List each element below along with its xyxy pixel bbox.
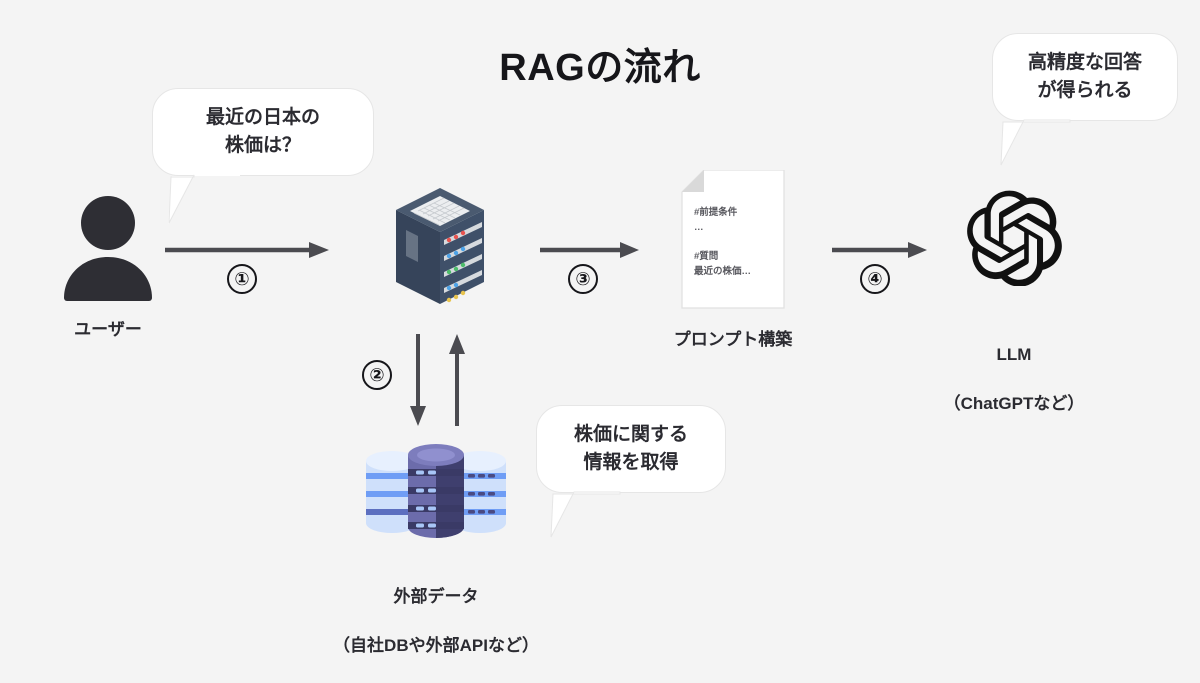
bubble-tail-icon bbox=[550, 491, 630, 539]
database-label-line2: （自社DBや外部APIなど） bbox=[276, 634, 596, 659]
llm-label: LLM （ChatGPTなど） bbox=[904, 318, 1124, 441]
server-node bbox=[392, 186, 488, 310]
arrow-2 bbox=[404, 334, 474, 426]
diagram-canvas: RAGの流れ ユーザー 最近の日本の株価は？ ① bbox=[0, 0, 1200, 630]
arrow-1-number: ① bbox=[227, 264, 257, 294]
database-label: 外部データ （自社DBや外部APIなど） bbox=[276, 560, 596, 683]
bubble-tail-icon bbox=[1000, 119, 1080, 167]
prompt-doc-text: #前提条件 … #質問 最近の株価… bbox=[694, 206, 751, 280]
person-icon bbox=[42, 185, 174, 305]
bubble-user-question-text: 最近の日本の株価は？ bbox=[192, 104, 334, 159]
arrow-2-number: ② bbox=[362, 360, 392, 390]
prompt-node: #前提条件 … #質問 最近の株価… bbox=[680, 170, 786, 310]
bubble-user-question: 最近の日本の株価は？ bbox=[152, 88, 374, 176]
bubble-retrieval-result: 株価に関する情報を取得 bbox=[536, 405, 726, 493]
llm-label-line1: LLM bbox=[904, 343, 1124, 368]
arrow-right-icon bbox=[832, 240, 928, 260]
arrow-down-up-icon bbox=[404, 334, 474, 426]
llm-node bbox=[966, 190, 1062, 286]
bubble-high-accuracy-answer-text: 高精度な回答が得られる bbox=[1014, 49, 1156, 104]
arrow-4 bbox=[832, 240, 928, 260]
bubble-tail-icon bbox=[168, 174, 248, 226]
server-rack-icon bbox=[392, 186, 488, 310]
database-label-line1: 外部データ bbox=[276, 585, 596, 610]
arrow-3-number: ③ bbox=[568, 264, 598, 294]
database-node bbox=[356, 443, 516, 543]
bubble-retrieval-result-text: 株価に関する情報を取得 bbox=[560, 421, 702, 476]
user-node bbox=[42, 185, 174, 305]
openai-logo-icon bbox=[966, 190, 1062, 286]
database-icon bbox=[356, 443, 516, 543]
arrow-3 bbox=[540, 240, 640, 260]
bubble-high-accuracy-answer: 高精度な回答が得られる bbox=[992, 33, 1178, 121]
prompt-label: プロンプト構築 bbox=[633, 328, 833, 353]
user-label: ユーザー bbox=[16, 318, 200, 343]
llm-label-line2: （ChatGPTなど） bbox=[904, 392, 1124, 417]
arrow-right-icon bbox=[165, 240, 330, 260]
arrow-1 bbox=[165, 240, 330, 260]
arrow-right-icon bbox=[540, 240, 640, 260]
arrow-4-number: ④ bbox=[860, 264, 890, 294]
